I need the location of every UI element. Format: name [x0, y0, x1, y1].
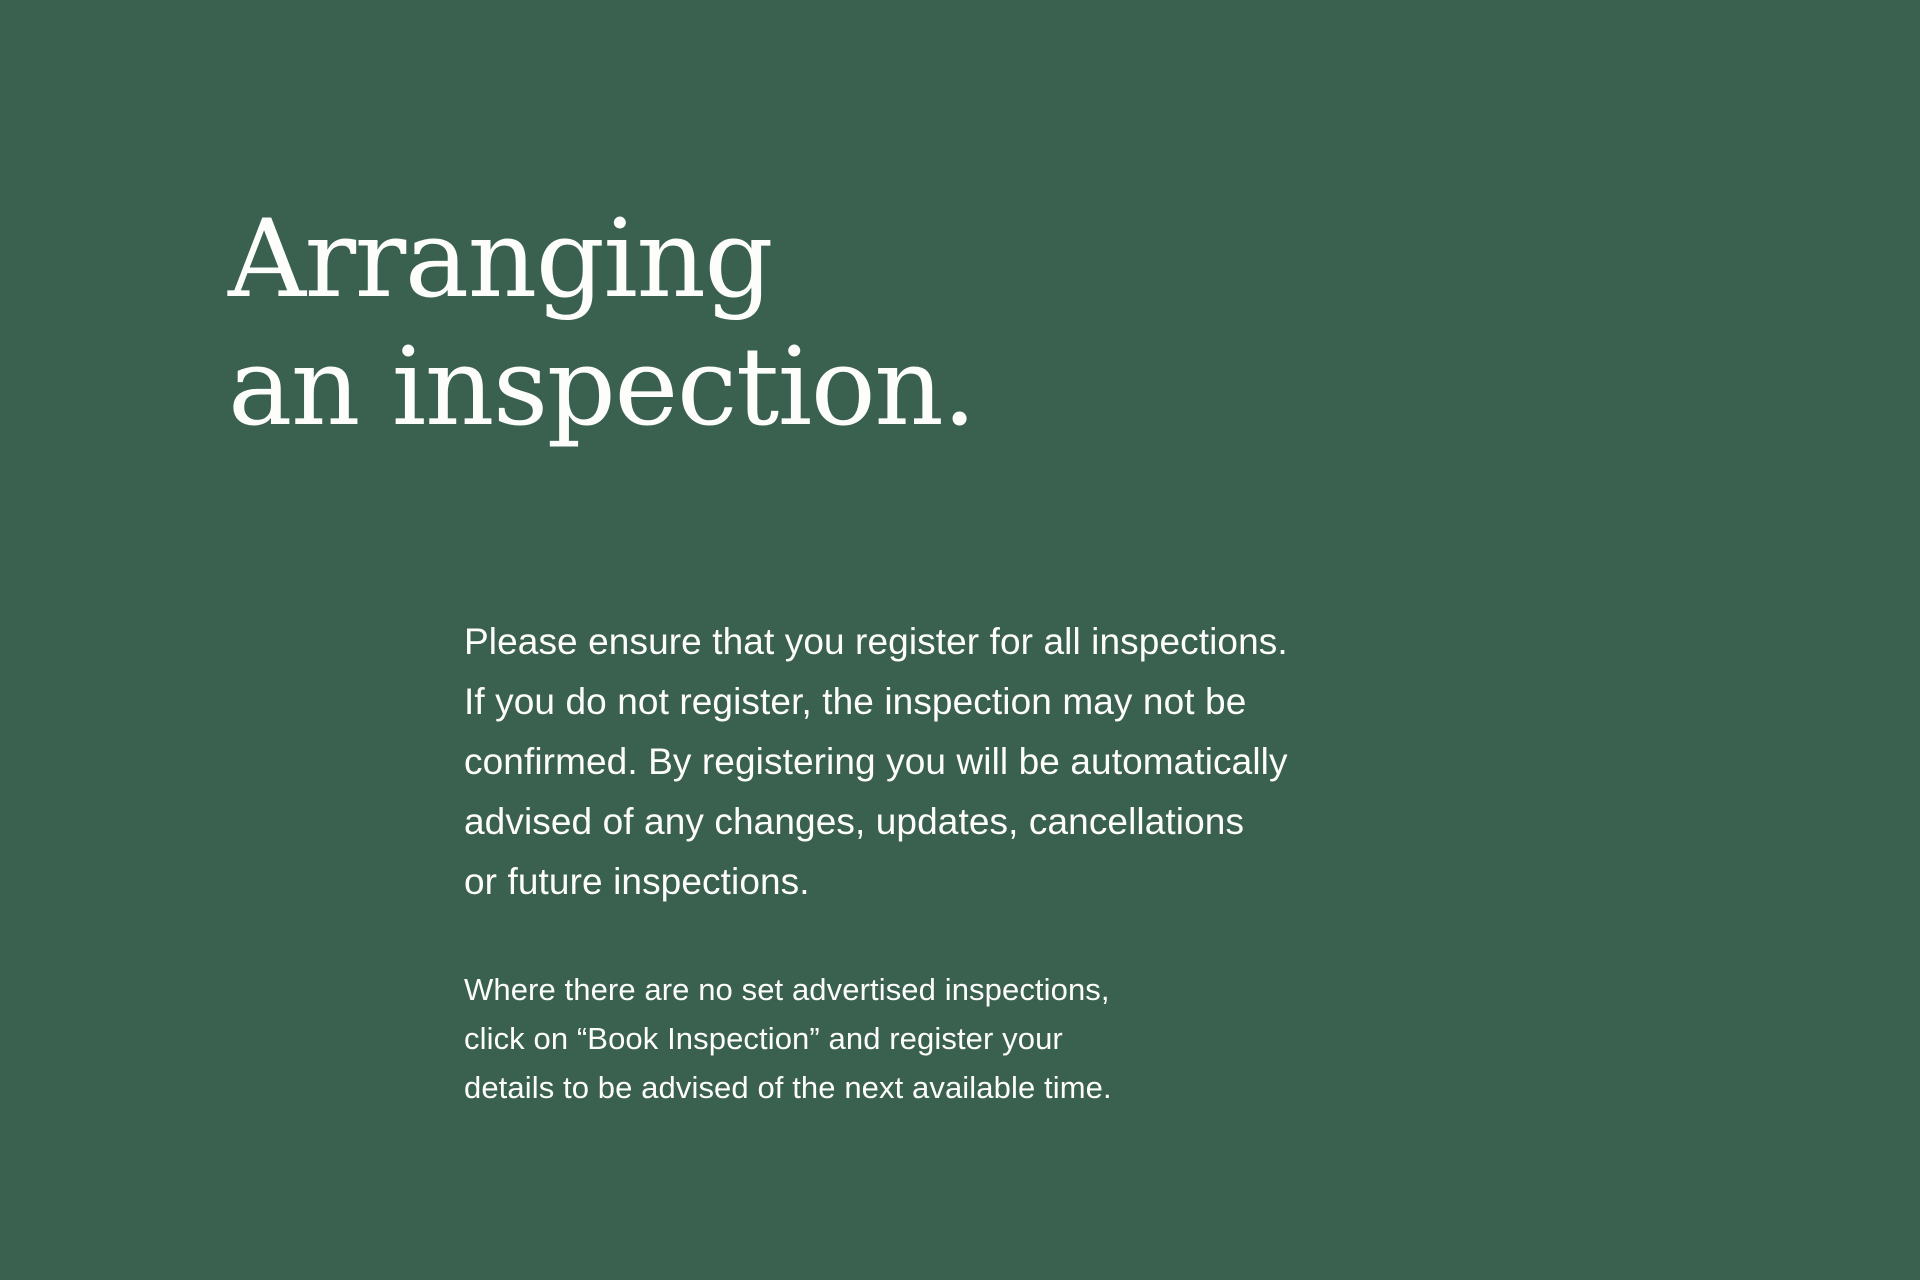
paragraph-line: or future inspections.: [464, 852, 1684, 912]
paragraph-line: click on “Book Inspection” and register …: [464, 1014, 1684, 1063]
paragraph-line: details to be advised of the next availa…: [464, 1063, 1684, 1112]
paragraph-line: confirmed. By registering you will be au…: [464, 732, 1684, 792]
paragraph-line: If you do not register, the inspection m…: [464, 672, 1684, 732]
page-title-line-2: an inspection.: [228, 324, 1428, 452]
slide-root: Arranging an inspection. Please ensure t…: [0, 0, 1920, 1280]
paragraph-book-inspection-notice: Where there are no set advertised inspec…: [464, 965, 1684, 1112]
body-copy: Please ensure that you register for all …: [464, 612, 1684, 1112]
page-title-line-1: Arranging: [228, 196, 1428, 324]
paragraph-registration-notice: Please ensure that you register for all …: [464, 612, 1684, 912]
paragraph-line: advised of any changes, updates, cancell…: [464, 792, 1684, 852]
paragraph-line: Please ensure that you register for all …: [464, 612, 1684, 672]
page-title: Arranging an inspection.: [228, 196, 1428, 452]
paragraph-line: Where there are no set advertised inspec…: [464, 965, 1684, 1014]
